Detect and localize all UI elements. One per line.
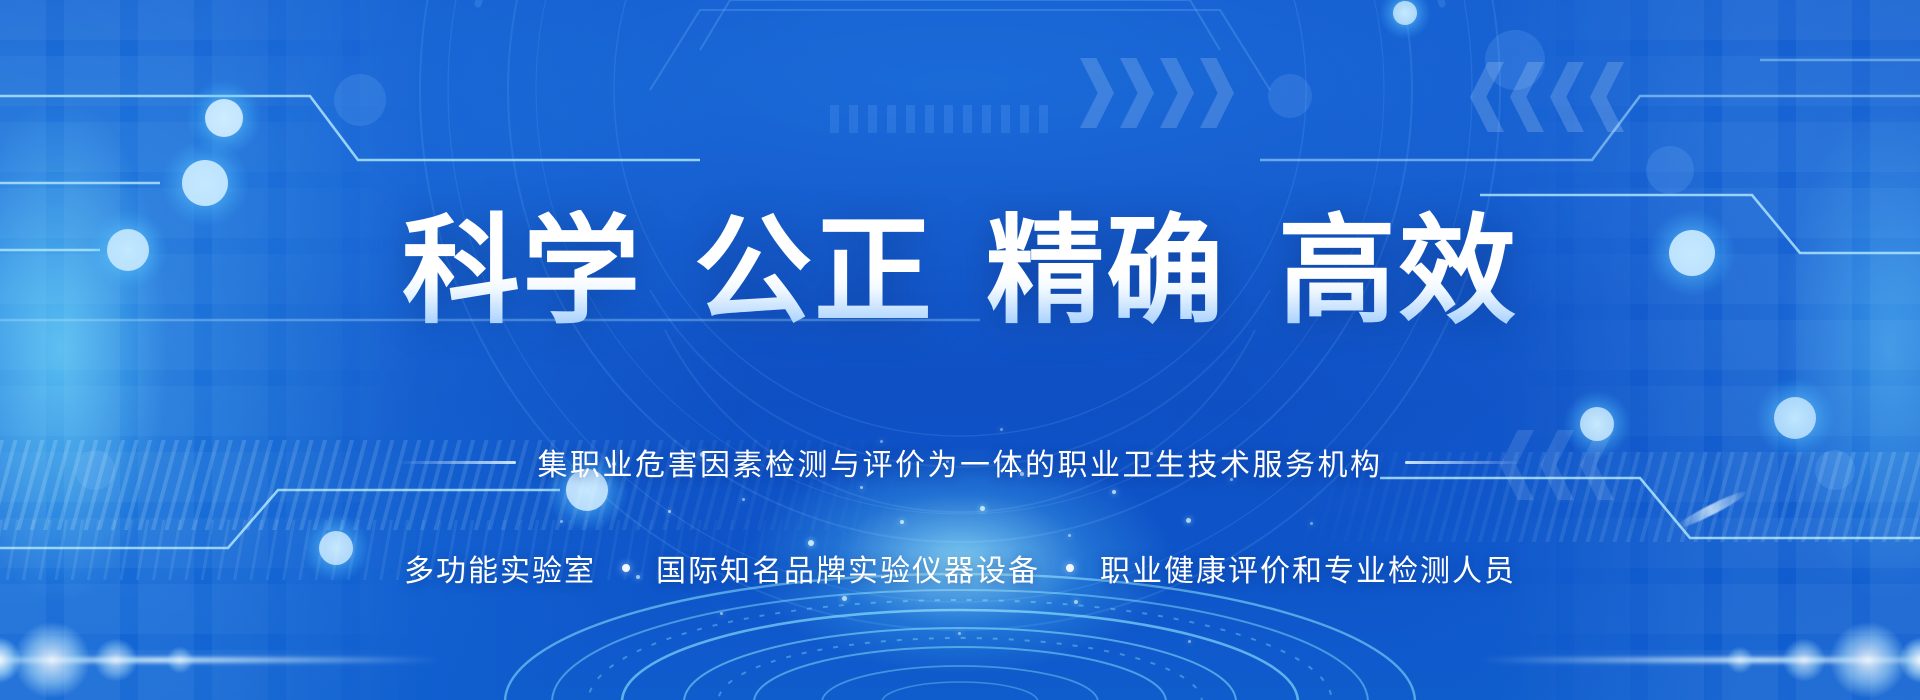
subtitle-text: 集职业危害因素检测与评价为一体的职业卫生技术服务机构 [538,440,1383,484]
feature-separator-dot-1 [622,564,630,572]
headline-word-4: 高效 [1278,210,1518,335]
feature-list: 多功能实验室 国际知名品牌实验仪器设备 职业健康评价和专业检测人员 [404,546,1516,590]
subtitle-row: 集职业危害因素检测与评价为一体的职业卫生技术服务机构 [398,440,1523,484]
feature-item-1: 多功能实验室 [404,546,596,590]
headline-word-3: 精确 [986,210,1226,335]
subtitle-rule-left [398,461,516,464]
feature-item-2: 国际知名品牌实验仪器设备 [656,546,1040,590]
subtitle-rule-right [1405,461,1523,464]
page-title: 科学 公正 精确 高效 [376,210,1544,335]
feature-item-3: 职业健康评价和专业检测人员 [1100,546,1516,590]
headline-word-2: 公正 [694,210,934,335]
banner-content: 科学 公正 精确 高效 集职业危害因素检测与评价为一体的职业卫生技术服务机构 多… [0,0,1920,700]
hero-banner: 科学 公正 精确 高效 集职业危害因素检测与评价为一体的职业卫生技术服务机构 多… [0,0,1920,700]
headline-word-1: 科学 [402,210,642,335]
feature-separator-dot-2 [1066,564,1074,572]
